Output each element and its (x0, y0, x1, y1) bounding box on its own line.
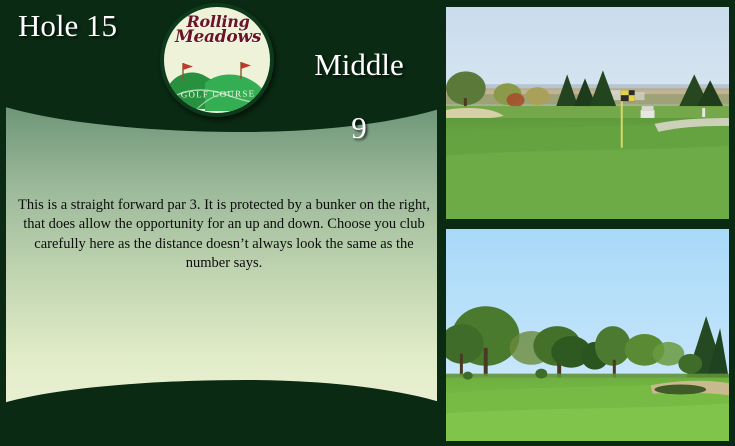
hole-info-card: Hole 15 Middle 9 (0, 0, 440, 446)
photo-fairway[interactable] (445, 228, 730, 442)
tee-yardage-label: 9 (280, 112, 438, 144)
photo-green-graphic (446, 7, 729, 219)
photo-column (445, 0, 735, 446)
photo-green-with-flag[interactable] (445, 6, 730, 220)
hole-number-label: Hole 15 (18, 10, 117, 42)
logo-script-text: Rolling Meadows (164, 14, 272, 45)
logo-hills-graphic (167, 59, 269, 115)
footer-curve-decoration (0, 380, 440, 446)
logo-word-meadows: Meadows (164, 29, 272, 45)
hole-info-page: Hole 15 Middle 9 (0, 0, 735, 446)
tee-name-label: Middle (280, 49, 438, 81)
logo-badge-circle: Rolling Meadows GOLF COURSE (160, 3, 274, 117)
photo-fairway-graphic (446, 229, 729, 441)
left-border-rail (0, 0, 6, 446)
logo-arc-golf-course: GOLF COURSE (164, 88, 272, 100)
course-logo[interactable]: Rolling Meadows GOLF COURSE (160, 3, 280, 121)
tee-info-block: Middle 9 (280, 17, 438, 175)
hole-description-text: This is a straight forward par 3. It is … (16, 196, 432, 273)
